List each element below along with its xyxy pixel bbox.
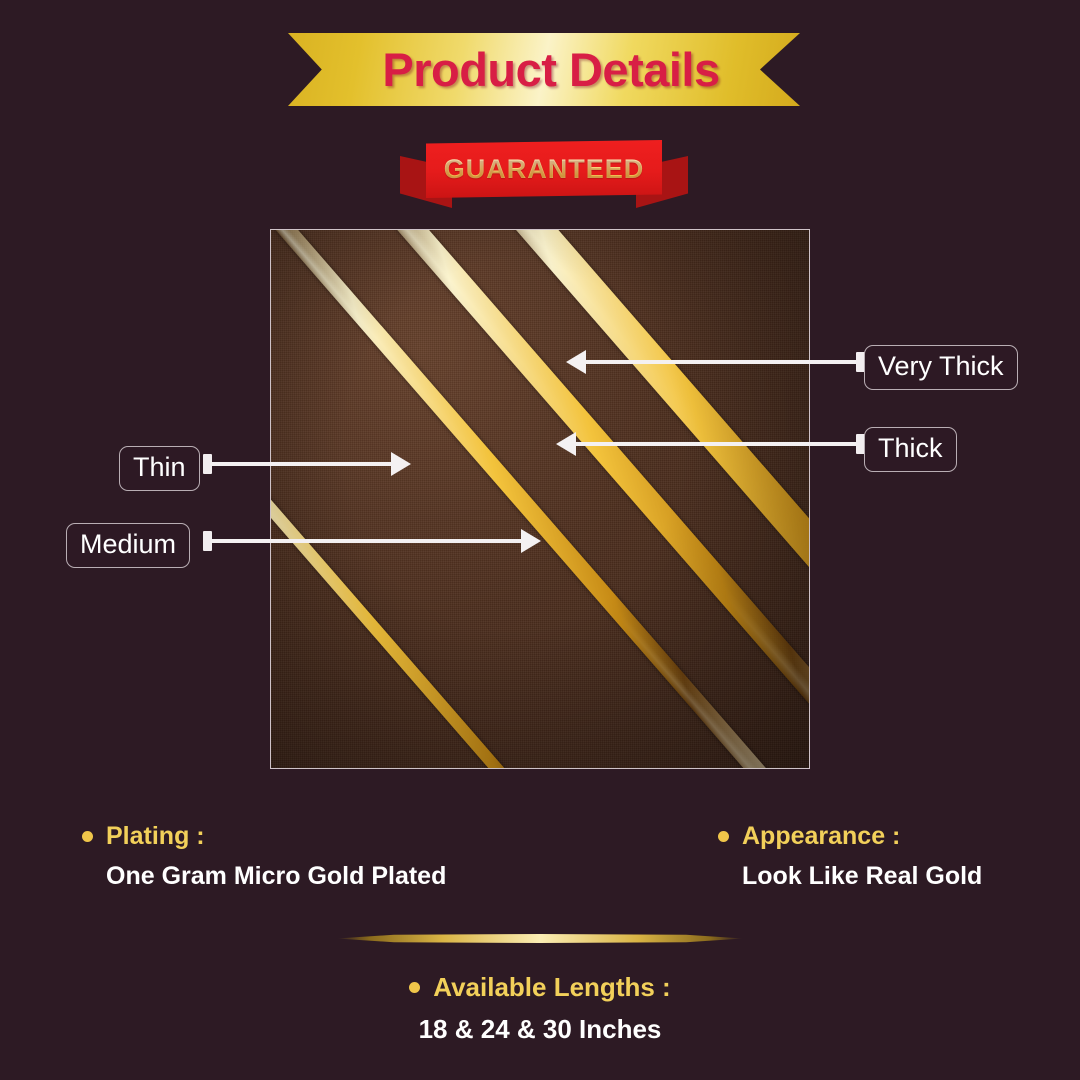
arrow-head-thick (556, 432, 576, 456)
spec-plating: Plating : One Gram Micro Gold Plated (82, 822, 446, 891)
lengths-value: 18 & 24 & 30 Inches (0, 1014, 1080, 1045)
photo-vignette (271, 230, 809, 768)
callout-label-thin[interactable]: Thin (119, 446, 200, 491)
guaranteed-badge: GUARANTEED (398, 132, 690, 214)
arrow-head-thin (391, 452, 411, 476)
spec-value: One Gram Micro Gold Plated (106, 862, 446, 891)
arrow-line-medium (211, 539, 521, 543)
callout-label-thick[interactable]: Thick (864, 427, 957, 472)
lengths-key: Available Lengths : (433, 972, 670, 1003)
arrow-head-very-thick (566, 350, 586, 374)
bullet-icon (82, 831, 93, 842)
spec-key: Appearance : (742, 822, 900, 851)
spec-appearance: Appearance : Look Like Real Gold (718, 822, 982, 891)
badge-body: GUARANTEED (426, 140, 662, 198)
gold-divider (337, 934, 743, 943)
title-ribbon: Product Details (288, 33, 800, 106)
callout-label-very-thick[interactable]: Very Thick (864, 345, 1018, 390)
bullet-icon (718, 831, 729, 842)
arrow-line-very-thick (586, 360, 862, 364)
arrow-head-medium (521, 529, 541, 553)
spec-value: Look Like Real Gold (742, 862, 982, 891)
product-photo (270, 229, 810, 769)
arrow-line-thick (576, 442, 862, 446)
spec-available-lengths: Available Lengths : 18 & 24 & 30 Inches (0, 972, 1080, 1045)
spec-key: Plating : (106, 822, 205, 851)
callout-label-medium[interactable]: Medium (66, 523, 190, 568)
infographic-canvas: Product Details GUARANTEED Very Thick Th… (0, 0, 1080, 1080)
arrow-line-thin (211, 462, 391, 466)
badge-label: GUARANTEED (444, 154, 645, 185)
page-title: Product Details (368, 42, 719, 97)
bullet-icon (409, 982, 420, 993)
